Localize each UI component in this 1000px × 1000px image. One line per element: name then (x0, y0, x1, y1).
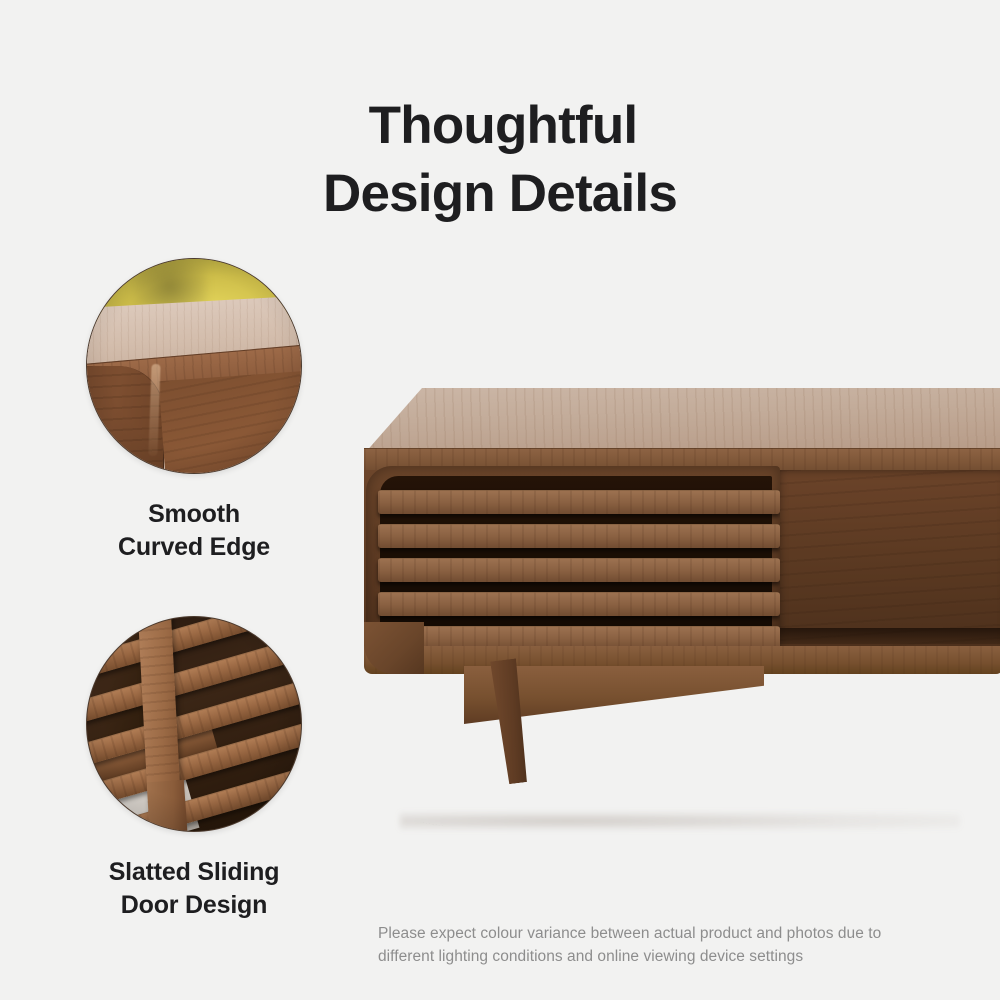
disclaimer-line-1: Please expect colour variance between ac… (378, 922, 958, 945)
front-leg (415, 663, 474, 826)
product-photo (340, 370, 1000, 840)
callout-label-smooth-curved-edge: Smooth Curved Edge (86, 498, 302, 564)
page-title-line-1: Thoughtful (6, 92, 1000, 160)
slat (378, 524, 780, 548)
page-title: Thoughtful Design Details (0, 92, 1000, 228)
page-title-line-2: Design Details (0, 160, 1000, 228)
marketing-image-canvas: Thoughtful Design Details Smooth Curved … (0, 0, 1000, 1000)
disclaimer-line-2: different lighting conditions and online… (378, 945, 958, 968)
callout-label-line-2: Door Design (86, 889, 302, 922)
callout-label-line-1: Slatted Sliding (86, 856, 302, 889)
colour-variance-disclaimer: Please expect colour variance between ac… (378, 922, 958, 968)
callout-smooth-curved-edge: Smooth Curved Edge (86, 258, 302, 564)
callout-label-line-2: Curved Edge (86, 531, 302, 564)
slat (378, 592, 780, 616)
slat (378, 490, 780, 514)
callout-slatted-sliding-door: Slatted Sliding Door Design (86, 616, 302, 922)
callout-label-slatted-sliding-door: Slatted Sliding Door Design (86, 856, 302, 922)
callout-image-slatted-sliding-door (86, 616, 302, 832)
slat (378, 558, 780, 582)
callout-label-line-1: Smooth (86, 498, 302, 531)
callout-image-smooth-curved-edge (86, 258, 302, 474)
cabinet-rounded-corner (364, 622, 424, 674)
slatted-sliding-door (366, 466, 780, 666)
cabinet-top-surface (364, 388, 1000, 454)
floor-shadow (400, 812, 960, 830)
